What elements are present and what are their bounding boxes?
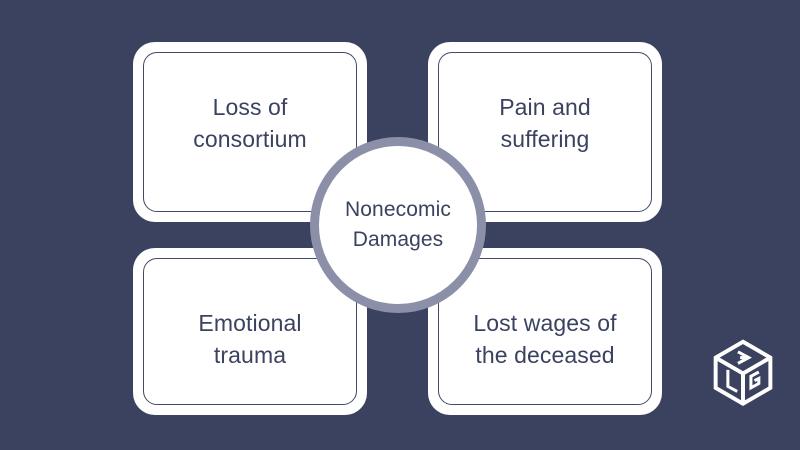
- center-hub-label: Nonecomic Damages: [345, 195, 451, 255]
- cube-logo-icon: [707, 336, 779, 408]
- card-label: Pain and suffering: [499, 92, 591, 155]
- card-inner-border: Emotional trauma: [143, 258, 357, 405]
- card-label: Loss of consortium: [193, 92, 306, 155]
- card-inner-border: Lost wages of the deceased: [438, 258, 652, 405]
- center-hub-circle: Nonecomic Damages: [310, 137, 486, 313]
- infographic-canvas: Loss of consortium Pain and suffering Em…: [0, 0, 800, 450]
- card-label: Lost wages of the deceased: [473, 308, 616, 371]
- card-label: Emotional trauma: [198, 308, 301, 371]
